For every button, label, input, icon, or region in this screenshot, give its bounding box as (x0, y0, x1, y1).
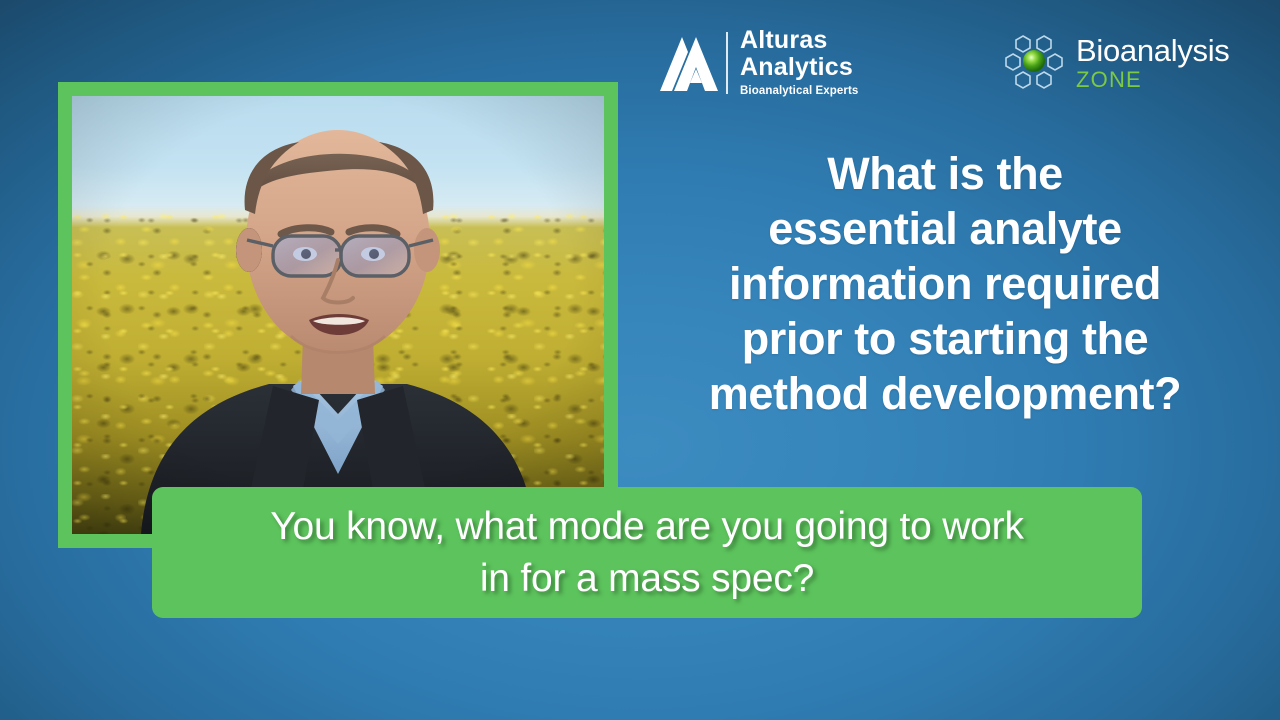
question-line: method development? (660, 366, 1230, 421)
alturas-tagline: Bioanalytical Experts (740, 84, 858, 99)
alturas-name-line-2: Analytics (740, 54, 858, 81)
alturas-analytics-logo: Alturas Analytics Bioanalytical Experts (658, 24, 858, 102)
question-line: prior to starting the (660, 311, 1230, 366)
bioanalysis-zone-subword: ZONE (1076, 68, 1230, 92)
question-line: information required (660, 256, 1230, 311)
question-line: What is the (660, 146, 1230, 201)
question-title: What is the essential analyte informatio… (660, 146, 1230, 421)
hexagon-molecule-logo-icon (1004, 30, 1070, 96)
alturas-name-line-1: Alturas (740, 27, 858, 54)
bioanalysis-zone-logo: Bioanalysis ZONE (1004, 24, 1230, 102)
alturas-wordmark: Alturas Analytics Bioanalytical Experts (740, 27, 858, 99)
caption-line: You know, what mode are you going to wor… (270, 501, 1024, 553)
speaker-video-frame (58, 82, 618, 548)
speaker-avatar (123, 114, 553, 534)
logo-divider (726, 32, 728, 94)
bioanalysis-name: Bioanalysis (1076, 34, 1230, 67)
caption-line: in for a mass spec? (270, 553, 1024, 605)
video-surface (72, 96, 604, 534)
video-frame-stage: Alturas Analytics Bioanalytical Experts (0, 0, 1280, 720)
bioanalysis-zone-wordmark: Bioanalysis ZONE (1076, 34, 1230, 92)
caption-bar: You know, what mode are you going to wor… (152, 487, 1142, 618)
question-line: essential analyte (660, 201, 1230, 256)
caption-text: You know, what mode are you going to wor… (270, 501, 1024, 605)
alturas-mountain-a-logo-icon (658, 35, 720, 91)
